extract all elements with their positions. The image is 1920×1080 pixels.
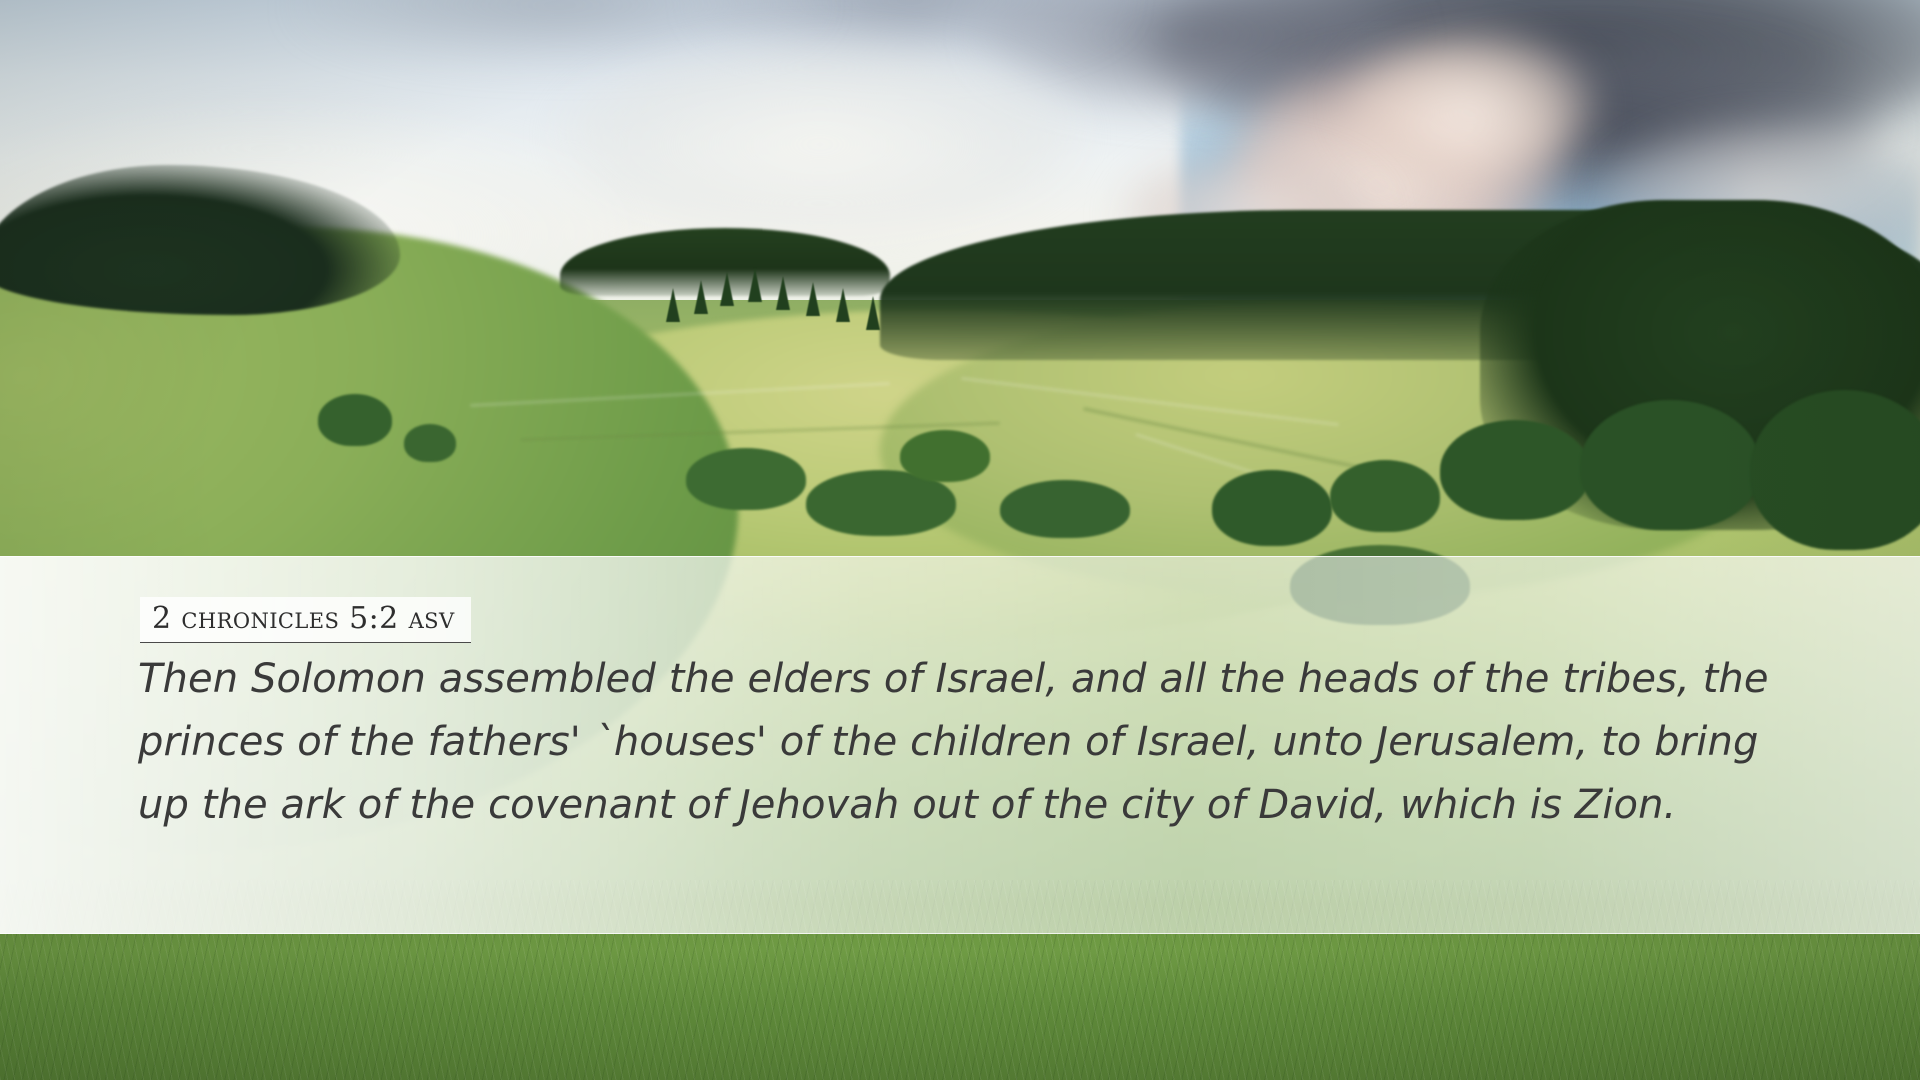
- meadow-tree-large: [1440, 420, 1590, 520]
- wallpaper-scene: 2 Chronicles 5:2 ASV Then Solomon assemb…: [0, 0, 1920, 1080]
- conifer-tree: [836, 288, 850, 322]
- verse-reference: 2 Chronicles 5:2 ASV: [152, 601, 455, 636]
- conifer-tree: [776, 276, 790, 310]
- meadow-tree: [318, 394, 392, 446]
- meadow-tree-cluster: [686, 448, 806, 510]
- conifer-tree: [720, 272, 734, 306]
- meadow-tree-large: [1580, 400, 1760, 530]
- conifer-tree: [666, 288, 680, 322]
- cloud-center-bright: [560, 40, 1080, 230]
- meadow-tree-large: [1750, 390, 1920, 550]
- verse-reference-container: 2 Chronicles 5:2 ASV: [140, 597, 471, 643]
- meadow-tree: [900, 430, 990, 482]
- meadow-tree: [404, 424, 456, 462]
- meadow-tree: [1212, 470, 1332, 546]
- meadow-tree: [1330, 460, 1440, 532]
- conifer-tree: [748, 268, 762, 302]
- verse-text: Then Solomon assembled the elders of Isr…: [138, 648, 1798, 837]
- conifer-tree: [694, 280, 708, 314]
- meadow-tree-cluster: [1000, 480, 1130, 538]
- sunlit-cumulus-top: [1345, 30, 1595, 180]
- conifer-tree: [866, 296, 880, 330]
- conifer-tree: [806, 282, 820, 316]
